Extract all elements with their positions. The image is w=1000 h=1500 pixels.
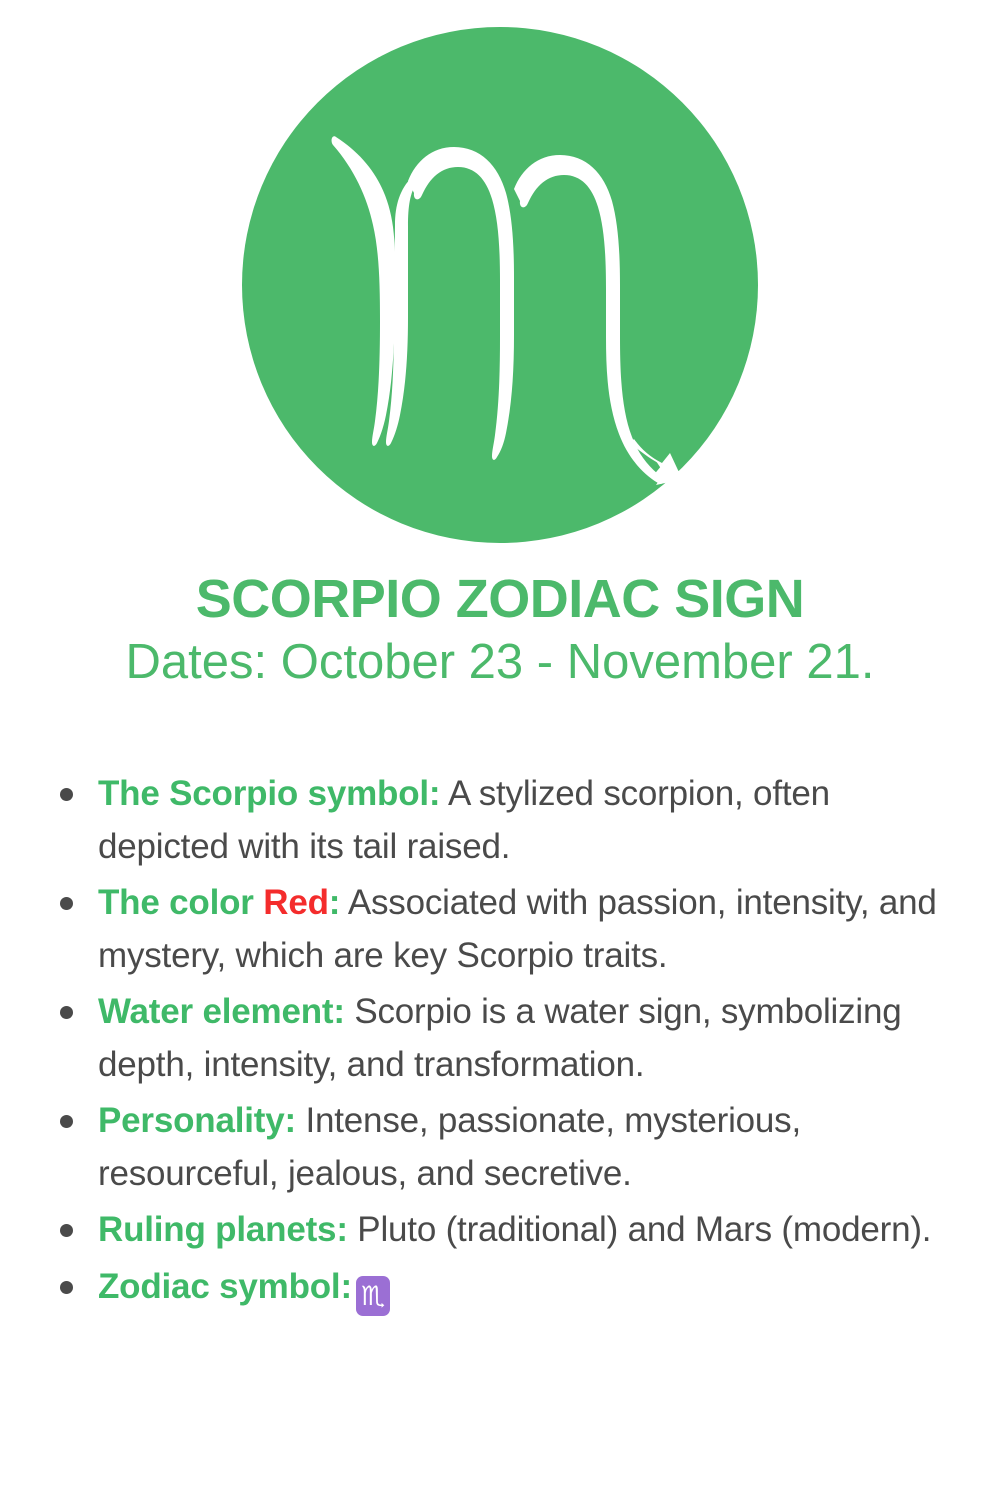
- page-title: SCORPIO ZODIAC SIGN: [0, 570, 1000, 628]
- fact-lead-pre: The color: [98, 883, 263, 922]
- fact-body: Pluto (traditional) and Mars (modern).: [348, 1210, 932, 1249]
- fact-lead-post: :: [329, 883, 340, 922]
- scorpio-emoji-badge: ♏: [356, 1276, 390, 1316]
- list-item: Ruling planets: Pluto (traditional) and …: [52, 1204, 970, 1257]
- list-item: Water element: Scorpio is a water sign, …: [52, 986, 970, 1091]
- fact-lead: Personality:: [98, 1101, 296, 1140]
- fact-lead: The Scorpio symbol:: [98, 774, 440, 813]
- hero-section: [0, 27, 1000, 543]
- zodiac-logo-circle: [242, 27, 758, 543]
- infographic-page: SCORPIO ZODIAC SIGN Dates: October 23 - …: [0, 0, 1000, 1500]
- fact-lead-highlight: Red: [263, 883, 329, 922]
- list-item: The Scorpio symbol: A stylized scorpion,…: [52, 768, 970, 873]
- list-item: Zodiac symbol:♏: [52, 1261, 970, 1317]
- scorpio-glyph-icon: [300, 85, 700, 485]
- fact-lead: Water element:: [98, 992, 345, 1031]
- fact-lead: The color Red:: [98, 883, 340, 922]
- page-subtitle: Dates: October 23 - November 21.: [0, 636, 1000, 690]
- list-item: Personality: Intense, passionate, myster…: [52, 1095, 970, 1200]
- fact-lead: Zodiac symbol:: [98, 1267, 352, 1306]
- list-item: The color Red: Associated with passion, …: [52, 877, 970, 982]
- title-block: SCORPIO ZODIAC SIGN Dates: October 23 - …: [0, 570, 1000, 690]
- fact-lead: Ruling planets:: [98, 1210, 348, 1249]
- facts-list: The Scorpio symbol: A stylized scorpion,…: [52, 768, 970, 1320]
